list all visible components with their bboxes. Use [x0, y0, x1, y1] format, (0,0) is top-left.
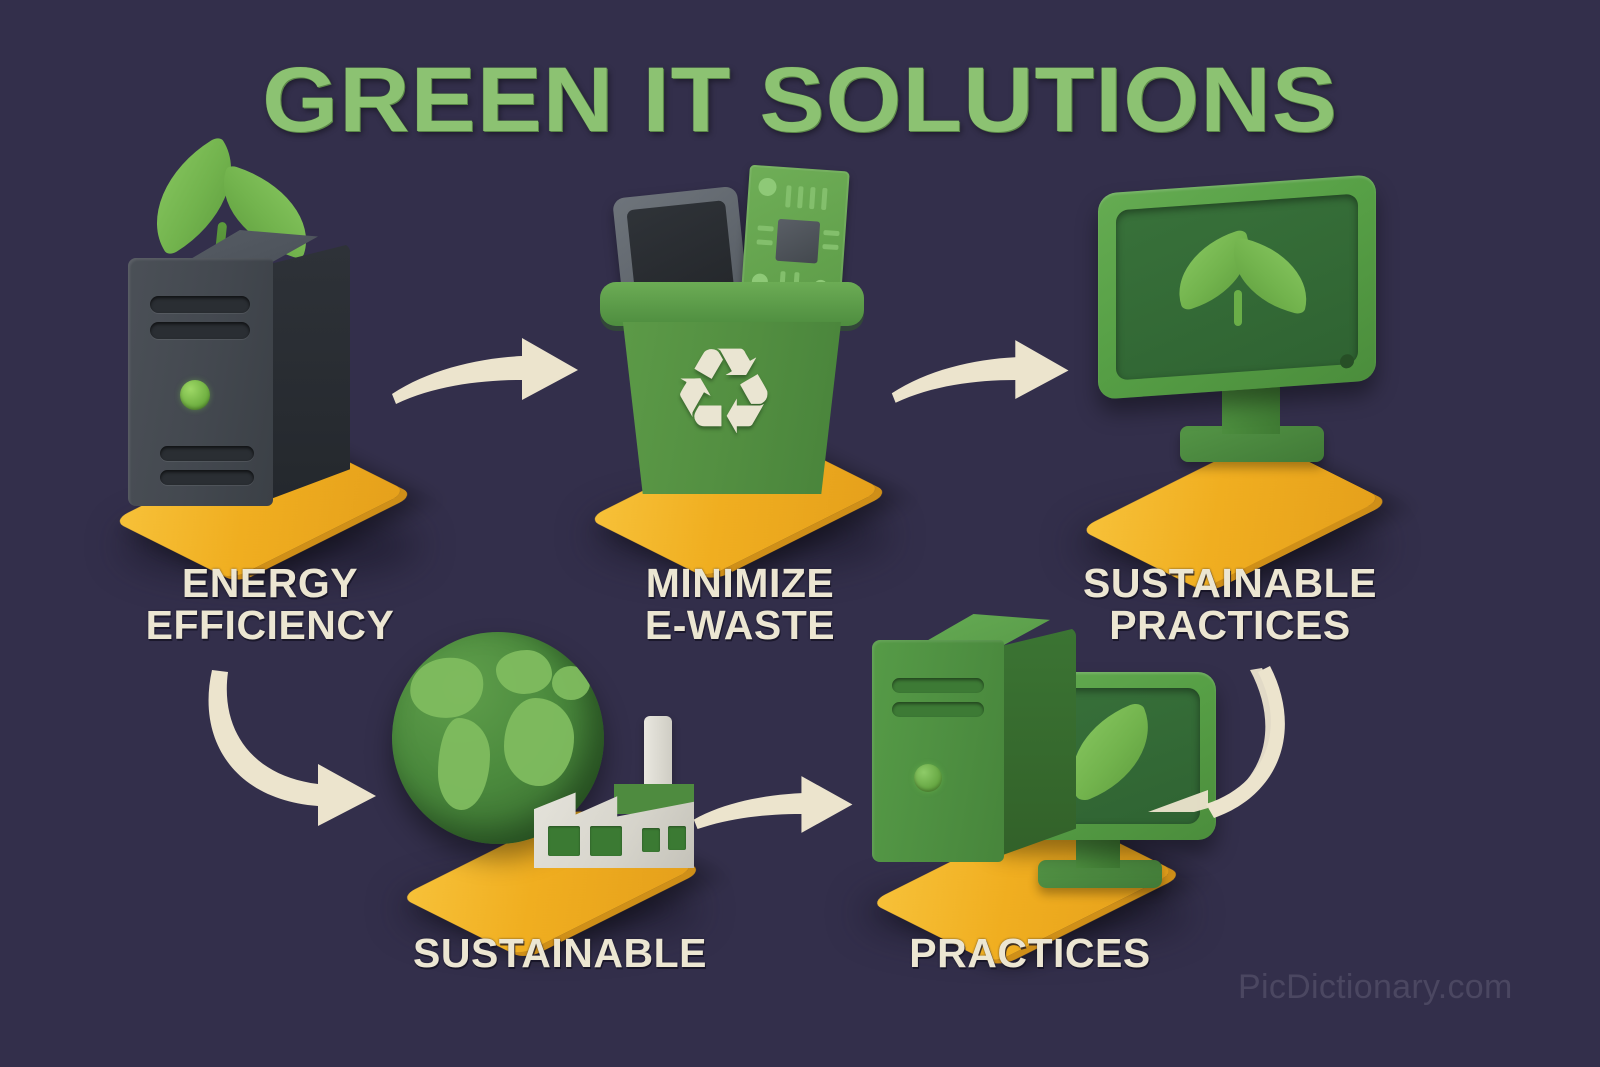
arrow-sustainable-to-practices [690, 768, 860, 858]
node-sustainable-practices[interactable]: SUSTAINABLE PRACTICES [1020, 150, 1440, 670]
node-minimize-e-waste[interactable]: ♻ MINIMIZE E-WASTE [540, 150, 940, 670]
vent-slot [150, 296, 250, 313]
server-tower [128, 258, 348, 510]
arrow-ewaste-to-practices [888, 330, 1078, 430]
page-title: GREEN IT SOLUTIONS [0, 48, 1600, 153]
node-label: SUSTAINABLE [360, 932, 760, 974]
green-monitor-with-leaves-icon [1020, 150, 1440, 550]
arrow-energy-to-sustainable [200, 660, 420, 830]
factory-window [642, 828, 660, 852]
arrow-practices-loop [1130, 662, 1310, 822]
recycle-symbol-icon: ♻ [670, 332, 778, 452]
watermark: PicDictionary.com [1238, 968, 1513, 1007]
pc-tower [872, 640, 1072, 862]
infographic-canvas: GREEN IT SOLUTIONS [0, 0, 1600, 1067]
recycling-bin: ♻ [582, 282, 882, 492]
vent-slot [150, 322, 250, 339]
node-label: PRACTICES [820, 932, 1240, 974]
vent-slot [160, 446, 254, 461]
power-led-icon [914, 764, 942, 792]
factory-window [548, 826, 580, 856]
recycling-bin-with-electronics-icon: ♻ [540, 150, 940, 550]
vent-slot [892, 678, 984, 693]
power-led-icon [180, 380, 210, 410]
factory-window [668, 826, 686, 850]
vent-slot [160, 470, 254, 485]
arrow-energy-to-ewaste [388, 330, 588, 430]
vent-slot [892, 702, 984, 717]
factory-window [590, 826, 622, 856]
monitor [1076, 184, 1396, 484]
